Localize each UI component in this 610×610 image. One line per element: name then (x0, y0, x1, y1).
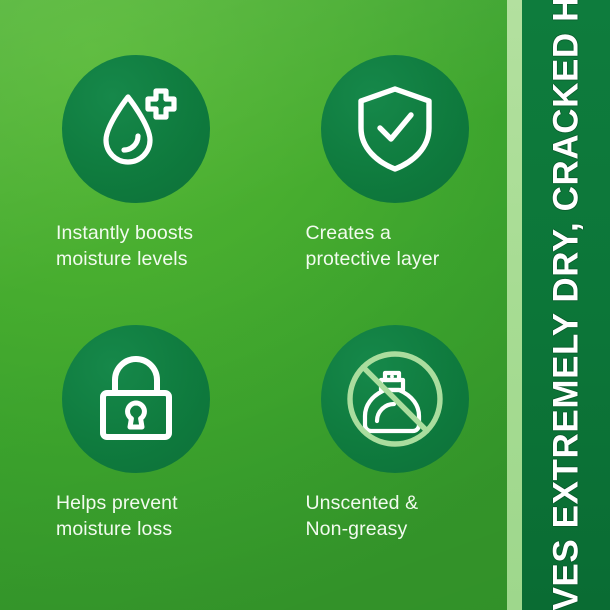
feature-caption: Unscented & Non-greasy (284, 491, 508, 543)
feature-item-helps-prevent-moisture-loss: Helps prevent moisture loss (0, 305, 254, 610)
feature-caption-line1: Instantly boosts (56, 221, 254, 247)
product-benefits-banner: Instantly boosts moisture levels Creates… (0, 0, 610, 610)
feature-caption-line2: moisture levels (56, 247, 254, 273)
padlock-icon (95, 355, 177, 443)
feature-caption-line1: Helps prevent (56, 491, 254, 517)
feature-caption: Helps prevent moisture loss (18, 491, 254, 543)
side-banner-text: RELIEVES EXTREMELY DRY, CRACKED HANDS (549, 0, 584, 610)
accent-stripe-light (507, 0, 522, 610)
feature-item-instantly-boosts: Instantly boosts moisture levels (0, 0, 254, 305)
feature-item-creates-protective-layer: Creates a protective layer (254, 0, 508, 305)
feature-item-unscented-non-greasy: Unscented & Non-greasy (254, 305, 508, 610)
feature-icon-disc (321, 55, 469, 203)
feature-caption-line2: Non-greasy (306, 517, 508, 543)
water-drop-plus-icon (90, 83, 182, 175)
feature-icon-disc (321, 325, 469, 473)
feature-caption-line2: protective layer (306, 247, 508, 273)
feature-icon-disc (62, 55, 210, 203)
feature-caption-line2: moisture loss (56, 517, 254, 543)
shield-check-icon (353, 84, 437, 174)
features-grid: Instantly boosts moisture levels Creates… (0, 0, 507, 610)
side-banner-text-wrap: RELIEVES EXTREMELY DRY, CRACKED HANDS (522, 0, 610, 610)
feature-icon-disc (62, 325, 210, 473)
no-fragrance-bottle-icon (339, 343, 451, 455)
feature-caption-line1: Creates a (306, 221, 508, 247)
feature-caption-line1: Unscented & (306, 491, 508, 517)
feature-caption: Instantly boosts moisture levels (18, 221, 254, 273)
feature-caption: Creates a protective layer (284, 221, 508, 273)
